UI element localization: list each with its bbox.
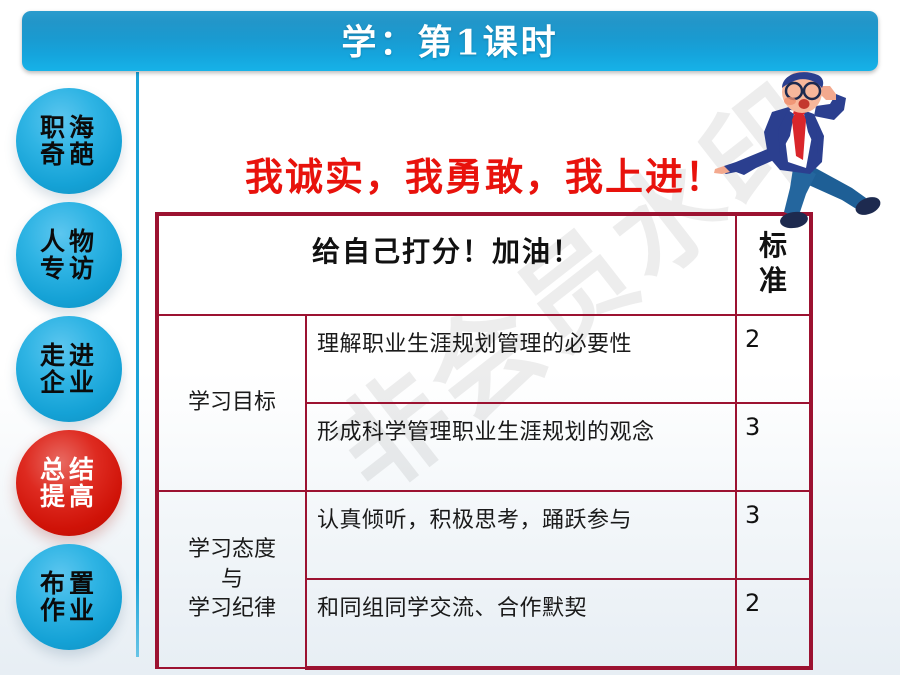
- sidebar-item-zhihaiqipa[interactable]: 职海 奇葩: [16, 88, 122, 194]
- title-banner: 学：第1课时: [22, 11, 878, 71]
- row-category-label: 学习态度 与 学习纪律: [157, 491, 306, 668]
- sidebar-item-buzhizuoye[interactable]: 布置 作业: [16, 544, 122, 650]
- sidebar-item-zoujinqiye[interactable]: 走进 企业: [16, 316, 122, 422]
- row-item-text: 形成科学管理职业生涯规划的观念: [306, 403, 736, 491]
- row-item-text: 认真倾听，积极思考，踊跃参与: [306, 491, 736, 579]
- slogan-text: 我诚实，我勇敢，我上进！: [160, 146, 810, 201]
- sidebar-item-renwuzhuanfang[interactable]: 人物 专访: [16, 202, 122, 308]
- table-row: 学习目标 理解职业生涯规划管理的必要性 2: [157, 315, 811, 403]
- table-header-title: 给自己打分！加油！: [157, 214, 736, 315]
- row-item-score[interactable]: 2: [736, 579, 811, 668]
- sidebar-item-label: 人物 专访: [40, 228, 98, 282]
- table-row: 学习态度 与 学习纪律 认真倾听，积极思考，踊跃参与 3: [157, 491, 811, 579]
- sidebar-item-zongjietigao[interactable]: 总结 提高: [16, 430, 122, 536]
- row-item-score[interactable]: 3: [736, 403, 811, 491]
- sidebar-item-label: 总结 提高: [40, 456, 98, 510]
- self-assessment-table: 给自己打分！加油！ 标 准 学习目标 理解职业生涯规划管理的必要性 2 形成科学…: [155, 212, 813, 670]
- row-item-score[interactable]: 2: [736, 315, 811, 403]
- sidebar: 职海 奇葩 人物 专访 走进 企业 总结 提高 布置 作业: [0, 78, 138, 668]
- row-category-label: 学习目标: [157, 315, 306, 491]
- row-item-text: 理解职业生涯规划管理的必要性: [306, 315, 736, 403]
- sidebar-item-label: 走进 企业: [40, 342, 98, 396]
- slide-canvas: 非会员水印 学：第1课时 职海 奇葩 人物 专访 走进 企业 总结 提高 布置 …: [0, 0, 900, 675]
- page-title: 学：第1课时: [22, 14, 878, 65]
- row-item-score[interactable]: 3: [736, 491, 811, 579]
- row-item-text: 和同组同学交流、合作默契: [306, 579, 736, 668]
- sidebar-divider: [136, 72, 139, 657]
- sidebar-item-label: 布置 作业: [40, 570, 98, 624]
- sidebar-item-label: 职海 奇葩: [40, 114, 98, 168]
